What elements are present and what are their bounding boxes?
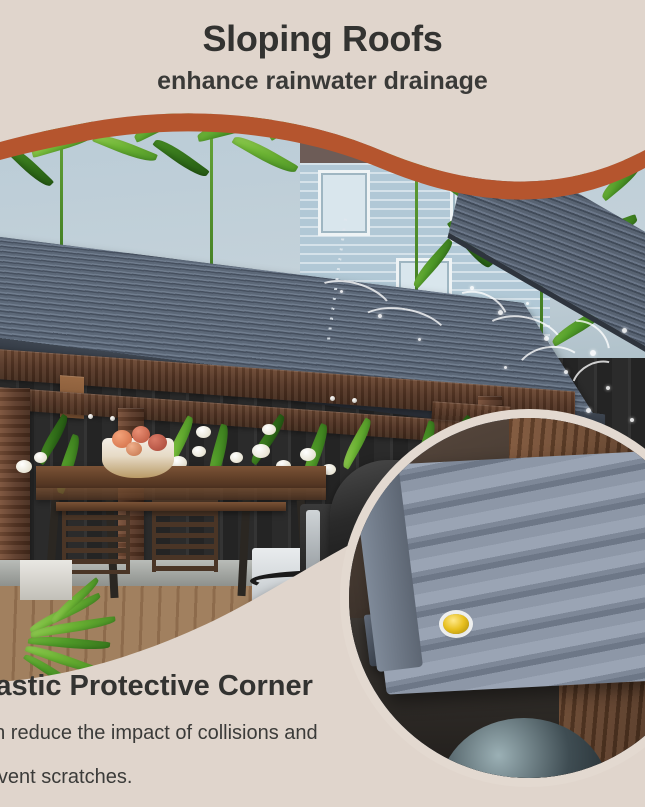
dining-table-top — [36, 466, 326, 488]
beam-screw — [110, 416, 115, 421]
screw-cap-icon — [443, 614, 469, 634]
poster-canvas: Sloping Roofs enhance rainwater drainage… — [0, 0, 645, 807]
fruit — [148, 434, 167, 451]
feature-title: Plastic Protective Corner — [0, 672, 645, 701]
beam-screw — [88, 414, 93, 419]
chair-back — [62, 504, 130, 574]
feature-line-1: can reduce the impact of collisions and — [0, 723, 645, 743]
chair-rail — [56, 502, 286, 511]
beam-screw — [330, 396, 335, 401]
page-subtitle: enhance rainwater drainage — [0, 69, 645, 94]
beam-screw — [352, 398, 357, 403]
planter-box — [20, 560, 72, 600]
feature-line-2: prevent scratches. — [0, 767, 645, 787]
feature-text-block: Plastic Protective Corner can reduce the… — [0, 672, 645, 787]
dining-table-apron — [36, 488, 326, 500]
header-block: Sloping Roofs enhance rainwater drainage — [0, 0, 645, 118]
fruit — [126, 442, 142, 456]
page-title: Sloping Roofs — [0, 21, 645, 57]
